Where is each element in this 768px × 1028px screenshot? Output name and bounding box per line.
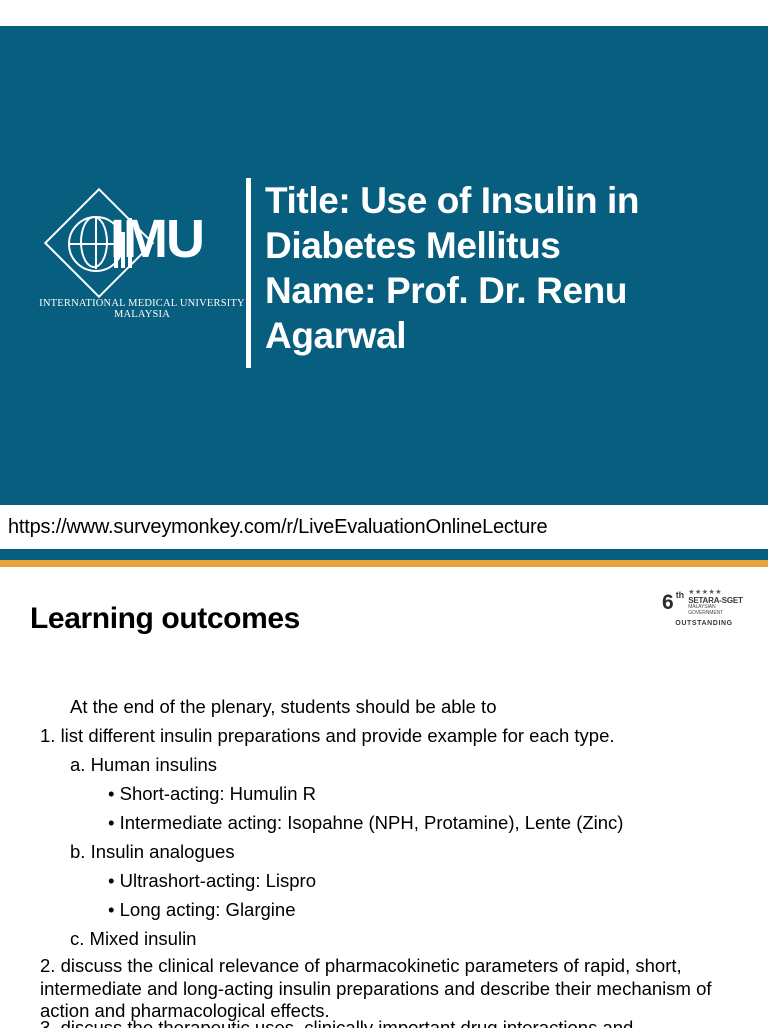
badge-line2: MALAYSIAN GOVERNMENT — [688, 605, 746, 616]
list-item: • Intermediate acting: Isopahne (NPH, Pr… — [108, 808, 752, 837]
list-item: b. Insulin analogues — [70, 837, 752, 866]
title-block: IMU INTERNATIONAL MEDICAL UNIVERSITY MAL… — [38, 176, 738, 368]
list-item: 1. list different insulin preparations a… — [40, 721, 752, 750]
title-accent-bar — [246, 178, 251, 368]
title-line-2: Diabetes Mellitus — [265, 223, 639, 268]
divider-orange — [0, 560, 768, 567]
title-line-3: Name: Prof. Dr. Renu — [265, 268, 639, 313]
list-item: a. Human insulins — [70, 750, 752, 779]
imu-logo: IMU INTERNATIONAL MEDICAL UNIVERSITY MAL… — [38, 176, 246, 320]
imu-logo-line2: MALAYSIA — [38, 309, 246, 320]
outcome-paragraph-3-clipped: 3. discuss the therapeutic uses, clinica… — [40, 1017, 752, 1028]
setara-badge: 6 th ★★★★★ SETARA-SGET MALAYSIAN GOVERNM… — [662, 589, 746, 627]
outcome-paragraph-2: 2. discuss the clinical relevance of pha… — [40, 955, 752, 1023]
imu-logo-mark: IMU — [38, 202, 246, 294]
survey-url-link[interactable]: https://www.surveymonkey.com/r/LiveEvalu… — [0, 516, 547, 539]
list-item: At the end of the plenary, students shou… — [70, 692, 752, 721]
badge-line3: OUTSTANDING — [662, 620, 746, 627]
list-item: • Long acting: Glargine — [108, 895, 752, 924]
survey-url-strip: https://www.surveymonkey.com/r/LiveEvalu… — [0, 505, 768, 549]
divider-blue — [0, 549, 768, 560]
outcomes-body: At the end of the plenary, students shou… — [40, 692, 752, 1023]
list-item: • Short-acting: Humulin R — [108, 779, 752, 808]
learning-outcomes-slide: Learning outcomes 6 th ★★★★★ SETARA-SGET… — [0, 567, 768, 1024]
title-heading: Title: Use of Insulin in Diabetes Mellit… — [265, 176, 639, 359]
imu-logo-line1: INTERNATIONAL MEDICAL UNIVERSITY — [38, 298, 246, 309]
title-line-1: Title: Use of Insulin in — [265, 178, 639, 223]
badge-top-row: 6 th ★★★★★ SETARA-SGET MALAYSIAN GOVERNM… — [662, 589, 746, 616]
globe-ring-icon — [80, 216, 108, 268]
title-slide: IMU INTERNATIONAL MEDICAL UNIVERSITY MAL… — [0, 26, 768, 505]
badge-ordinal: th — [676, 591, 685, 600]
badge-stars-icon: ★★★★★ — [688, 589, 746, 596]
list-item: c. Mixed insulin — [70, 924, 752, 953]
title-line-4: Agarwal — [265, 313, 639, 358]
bars-icon — [114, 210, 140, 268]
page-title: Learning outcomes — [30, 602, 300, 636]
list-item: • Ultrashort-acting: Lispro — [108, 866, 752, 895]
badge-number: 6 — [662, 592, 674, 613]
